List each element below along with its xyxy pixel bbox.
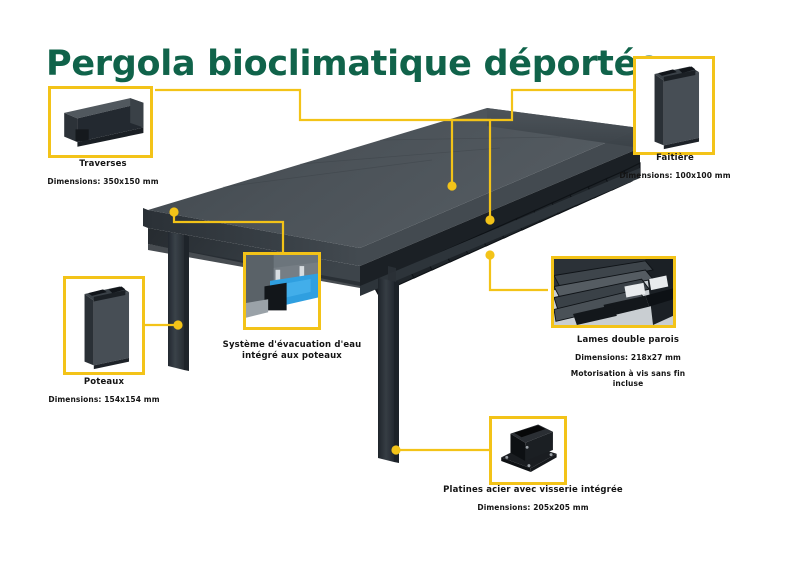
steel-base-plate-photo [492, 419, 564, 482]
post-left-side [184, 235, 189, 371]
post-left [168, 232, 184, 370]
caption-evacuation-subtitle: intégré aux poteaux [212, 352, 372, 361]
thumbnail-evacuation [243, 252, 321, 330]
dot-faitiere [447, 181, 456, 190]
caption-lames-note-1: Motorisation à vis sans fin [538, 370, 718, 378]
caption-traverses: Traverses Dimensions: 350x150 mm [28, 160, 178, 194]
caption-poteaux-dimensions: Dimensions: 154x154 mm [29, 396, 179, 404]
caption-platines-title: Platines acier avec visserie intégrée [433, 486, 633, 495]
caption-faitiere-dimensions: Dimensions: 100x100 mm [600, 172, 750, 180]
dot-evacuation [169, 207, 178, 216]
ridge-post-profile-photo [636, 59, 712, 152]
water-drainage-photo [246, 255, 318, 327]
dot-poteaux [173, 320, 182, 329]
louver-blades-photo [554, 259, 673, 325]
caption-lames-dimensions: Dimensions: 218x27 mm [538, 354, 718, 362]
pergola-infographic: Pergola bioclimatique déportée [0, 0, 800, 566]
caption-lames-note-2: incluse [538, 380, 718, 388]
dot-traverses [485, 215, 494, 224]
caption-traverses-title: Traverses [28, 160, 178, 169]
leader-lames [490, 255, 548, 290]
caption-faitiere-title: Faitière [600, 154, 750, 163]
caption-platines-dimensions: Dimensions: 205x205 mm [433, 504, 633, 512]
thumbnail-poteaux [63, 276, 145, 375]
thumbnail-faitiere [633, 56, 715, 155]
post-center-top-joint [388, 266, 396, 282]
post-profile-photo [66, 279, 142, 372]
thumbnail-traverses [48, 86, 153, 158]
thumbnail-platines [489, 416, 567, 485]
caption-platines: Platines acier avec visserie intégrée Di… [433, 486, 633, 520]
caption-lames: Lames double parois Dimensions: 218x27 m… [538, 336, 718, 396]
caption-evacuation: Système d'évacuation d'eau intégré aux p… [212, 341, 372, 370]
dot-lames [485, 250, 494, 259]
post-center [378, 278, 394, 462]
roof-left-endcap [143, 208, 148, 228]
caption-evacuation-title: Système d'évacuation d'eau [212, 341, 372, 350]
beam-profile-photo [51, 89, 150, 155]
caption-traverses-dimensions: Dimensions: 350x150 mm [28, 178, 178, 186]
post-center-side [394, 281, 399, 463]
thumbnail-lames [551, 256, 676, 328]
caption-faitiere: Faitière Dimensions: 100x100 mm [600, 154, 750, 188]
caption-lames-title: Lames double parois [538, 336, 718, 345]
caption-poteaux-title: Poteaux [29, 378, 179, 387]
dot-platines [391, 445, 400, 454]
caption-poteaux: Poteaux Dimensions: 154x154 mm [29, 378, 179, 412]
